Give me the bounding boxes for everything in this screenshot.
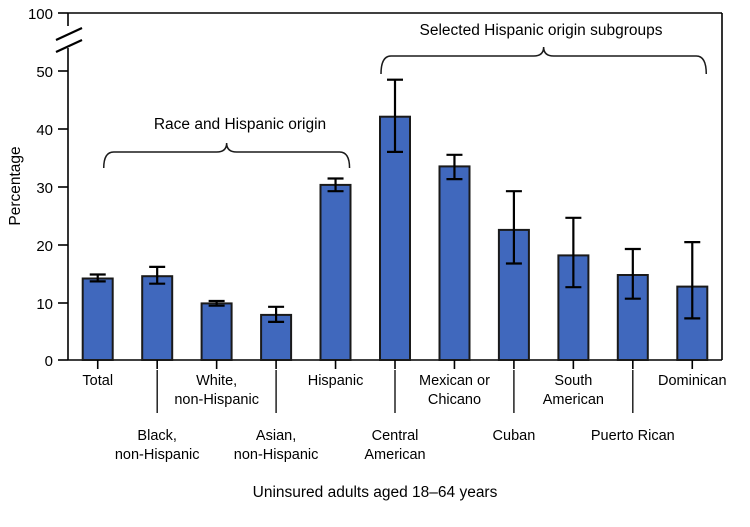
bar-central-american	[380, 117, 410, 360]
category-label-cuban: Cuban	[493, 428, 536, 444]
category-label-black-non-hispanic: non-Hispanic	[115, 447, 200, 463]
category-label-mexican-or-chicano: Chicano	[428, 392, 481, 408]
category-label-white-non-hispanic: non-Hispanic	[174, 392, 259, 408]
axis-break-slash-upper	[56, 28, 82, 40]
chart-figure: 100 50 40 30 20 10 0 Percentage TotalBla…	[0, 0, 750, 527]
category-labels: TotalBlack,non-HispanicWhite,non-Hispani…	[82, 373, 726, 463]
y-axis-ticks: 100 50 40 30 20 10 0	[28, 6, 68, 370]
category-label-south-american: South	[554, 373, 592, 389]
category-label-asian-non-hispanic: Asian,	[256, 428, 296, 444]
category-label-dominican: Dominican	[658, 373, 727, 389]
race-origin-brace-label: Race and Hispanic origin	[154, 116, 326, 133]
y-axis-title: Percentage	[7, 146, 24, 225]
race-origin-brace	[104, 143, 350, 168]
bar-hispanic	[321, 185, 351, 360]
x-axis-ticks	[98, 360, 693, 369]
category-label-asian-non-hispanic: non-Hispanic	[234, 447, 319, 463]
category-label-white-non-hispanic: White,	[196, 373, 237, 389]
category-label-south-american: American	[543, 392, 604, 408]
y-tick-label-100: 100	[28, 6, 53, 23]
axis-break-slash-lower	[56, 40, 82, 52]
hispanic-subgroups-brace-label: Selected Hispanic origin subgroups	[420, 22, 663, 39]
y-tick-label-40: 40	[36, 122, 53, 139]
category-label-hispanic: Hispanic	[308, 373, 364, 389]
bar-total	[83, 279, 113, 361]
bar-black-non-hispanic	[142, 276, 172, 360]
category-label-black-non-hispanic: Black,	[137, 428, 177, 444]
category-label-total: Total	[82, 373, 113, 389]
y-tick-label-20: 20	[36, 238, 53, 255]
y-tick-label-30: 30	[36, 180, 53, 197]
y-tick-label-10: 10	[36, 296, 53, 313]
bar-chart-canvas: 100 50 40 30 20 10 0 Percentage TotalBla…	[0, 0, 750, 527]
bar-mexican-or-chicano	[440, 166, 470, 360]
category-label-puerto-rican: Puerto Rican	[591, 428, 675, 444]
y-tick-label-0: 0	[45, 353, 53, 370]
category-label-central-american: American	[364, 447, 425, 463]
bar-white-non-hispanic	[202, 303, 232, 360]
x-axis-title: Uninsured adults aged 18–64 years	[253, 484, 498, 501]
y-tick-label-50: 50	[36, 64, 53, 81]
category-label-central-american: Central	[372, 428, 419, 444]
hispanic-subgroups-brace	[381, 47, 706, 74]
category-label-mexican-or-chicano: Mexican or	[419, 373, 490, 389]
